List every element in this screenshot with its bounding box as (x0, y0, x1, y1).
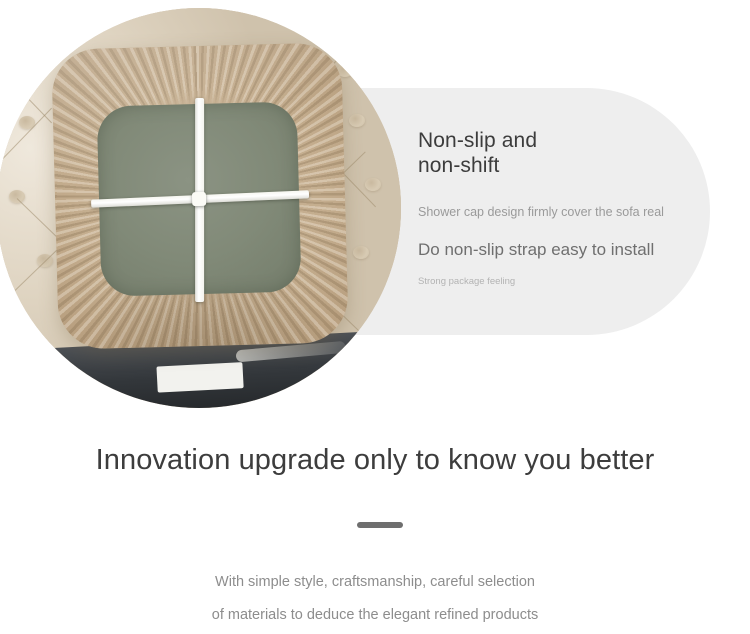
panel-headline-line-2: non-shift (418, 154, 499, 177)
sofa-tuft-button (349, 114, 365, 127)
product-feature-banner: Non-slip andnon-shift Shower cap design … (0, 0, 750, 634)
product-photo-inner (0, 8, 401, 408)
main-tagline: Innovation upgrade only to know you bett… (0, 442, 750, 478)
panel-subtext-package: Strong package feeling (418, 276, 528, 287)
inner-green-panel (97, 101, 302, 296)
strap-center-knot (192, 192, 206, 206)
panel-subtext-strap: Do non-slip strap easy to install (418, 239, 718, 260)
panel-headline: Non-slip andnon-shift (418, 128, 718, 178)
body-copy-line-1: With simple style, craftsmanship, carefu… (0, 566, 750, 599)
body-copy: With simple style, craftsmanship, carefu… (0, 566, 750, 632)
info-panel-text: Non-slip andnon-shift Shower cap design … (418, 128, 718, 287)
sofa-tuft-button (365, 178, 381, 191)
cushion-cover (51, 42, 349, 349)
section-divider (357, 522, 403, 528)
sofa-tuft-button (9, 190, 25, 203)
panel-subtext-shower-cap: Shower cap design firmly cover the sofa … (418, 204, 718, 220)
product-photo-circle (0, 8, 401, 408)
body-copy-line-2: of materials to deduce the elegant refin… (0, 599, 750, 632)
packaging-white-label (156, 362, 243, 392)
sofa-tuft-button (27, 68, 43, 81)
panel-headline-line-1: Non-slip and (418, 129, 537, 152)
sofa-tuft-button (353, 246, 369, 259)
